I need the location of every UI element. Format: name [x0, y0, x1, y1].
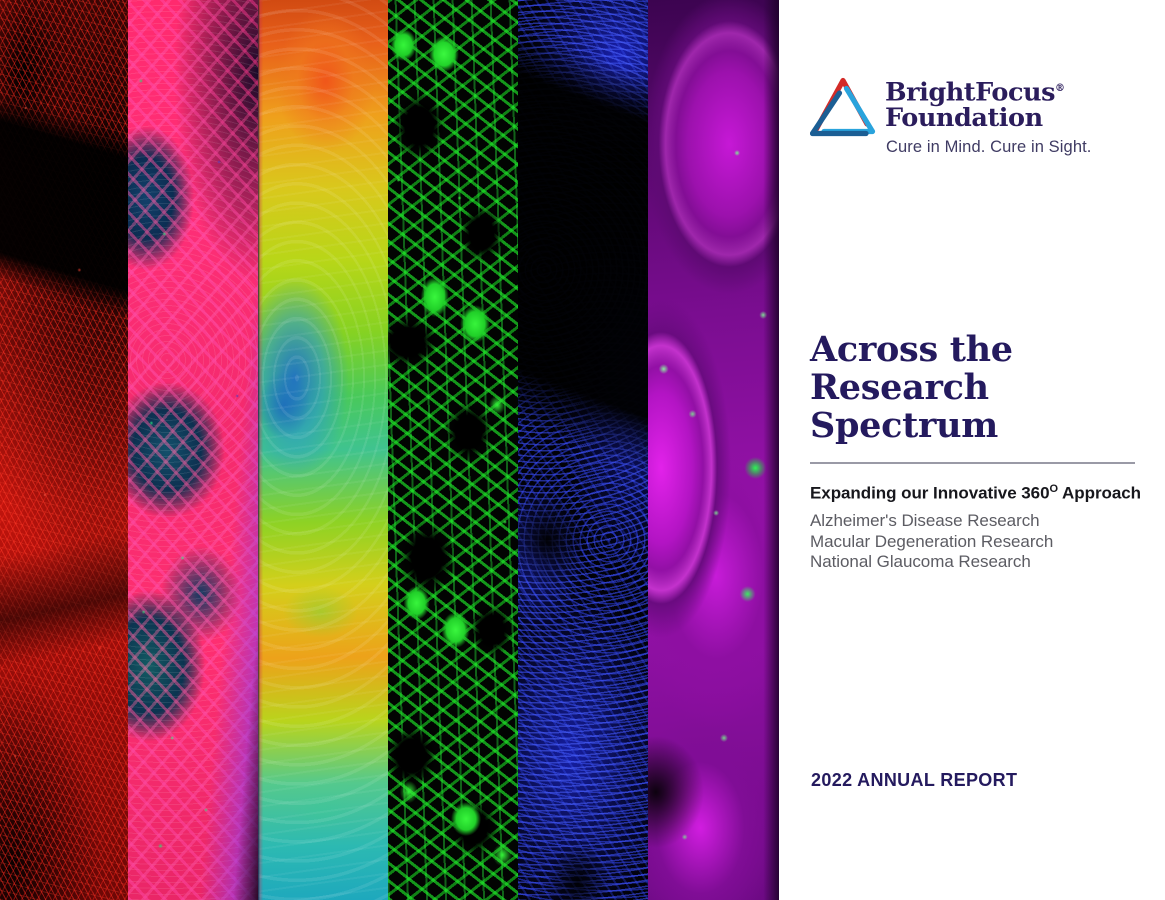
list-item: National Glaucoma Research	[810, 552, 1150, 573]
brightfocus-triangle-icon	[810, 75, 876, 137]
title-divider	[810, 462, 1135, 464]
title-line-2: Research Spectrum	[810, 367, 998, 446]
research-program-list: Alzheimer's Disease Research Macular Deg…	[810, 511, 1150, 573]
cover-subtitle: Expanding our Innovative 360O Approach	[810, 479, 1150, 504]
brand-tagline: Cure in Mind. Cure in Sight.	[886, 138, 1115, 157]
microscopy-image-band	[0, 0, 779, 900]
image-strip-magenta-cells-green-puncta	[648, 0, 779, 900]
logo-wordmark: BrightFocus® Foundation Cure in Mind. Cu…	[885, 76, 1115, 157]
list-item: Alzheimer's Disease Research	[810, 511, 1150, 532]
subtitle-prefix: Expanding our Innovative 360	[810, 483, 1050, 502]
subtitle-suffix: Approach	[1058, 483, 1141, 502]
degree-symbol-icon: O	[1050, 483, 1059, 495]
cover-title-block: Across the Research Spectrum Expanding o…	[810, 331, 1150, 589]
annual-report-cover: BrightFocus® Foundation Cure in Mind. Cu…	[0, 0, 1165, 900]
registered-trademark-icon: ®	[1055, 83, 1065, 94]
brightfocus-logo: BrightFocus® Foundation Cure in Mind. Cu…	[810, 75, 1110, 165]
strip-6-dark-edge	[648, 0, 779, 900]
strip-2-edge-glow	[128, 0, 258, 900]
image-strip-magenta-teal-tissue	[128, 0, 258, 900]
page-title: Across the Research Spectrum	[810, 331, 1150, 445]
brand-name-foundation: Foundation	[885, 106, 1115, 131]
title-line-1: Across the	[810, 329, 1013, 370]
strip-4-puncta	[388, 0, 518, 900]
image-strip-green-neurons-confocal	[388, 0, 518, 900]
strip-5-dark-voids	[518, 0, 648, 900]
annual-report-label: 2022 ANNUAL REPORT	[811, 770, 1017, 791]
strip-1-speckle	[0, 0, 128, 900]
strip-3-left-edge	[258, 0, 388, 900]
image-strip-red-fibrous-confocal	[0, 0, 128, 900]
cover-text-panel: BrightFocus® Foundation Cure in Mind. Cu…	[779, 0, 1165, 900]
image-strip-blue-dapi-nuclei	[518, 0, 648, 900]
list-item: Macular Degeneration Research	[810, 532, 1150, 553]
image-strip-rainbow-oct-thickness-map	[258, 0, 388, 900]
brand-name-line-1: BrightFocus®	[885, 76, 1115, 106]
